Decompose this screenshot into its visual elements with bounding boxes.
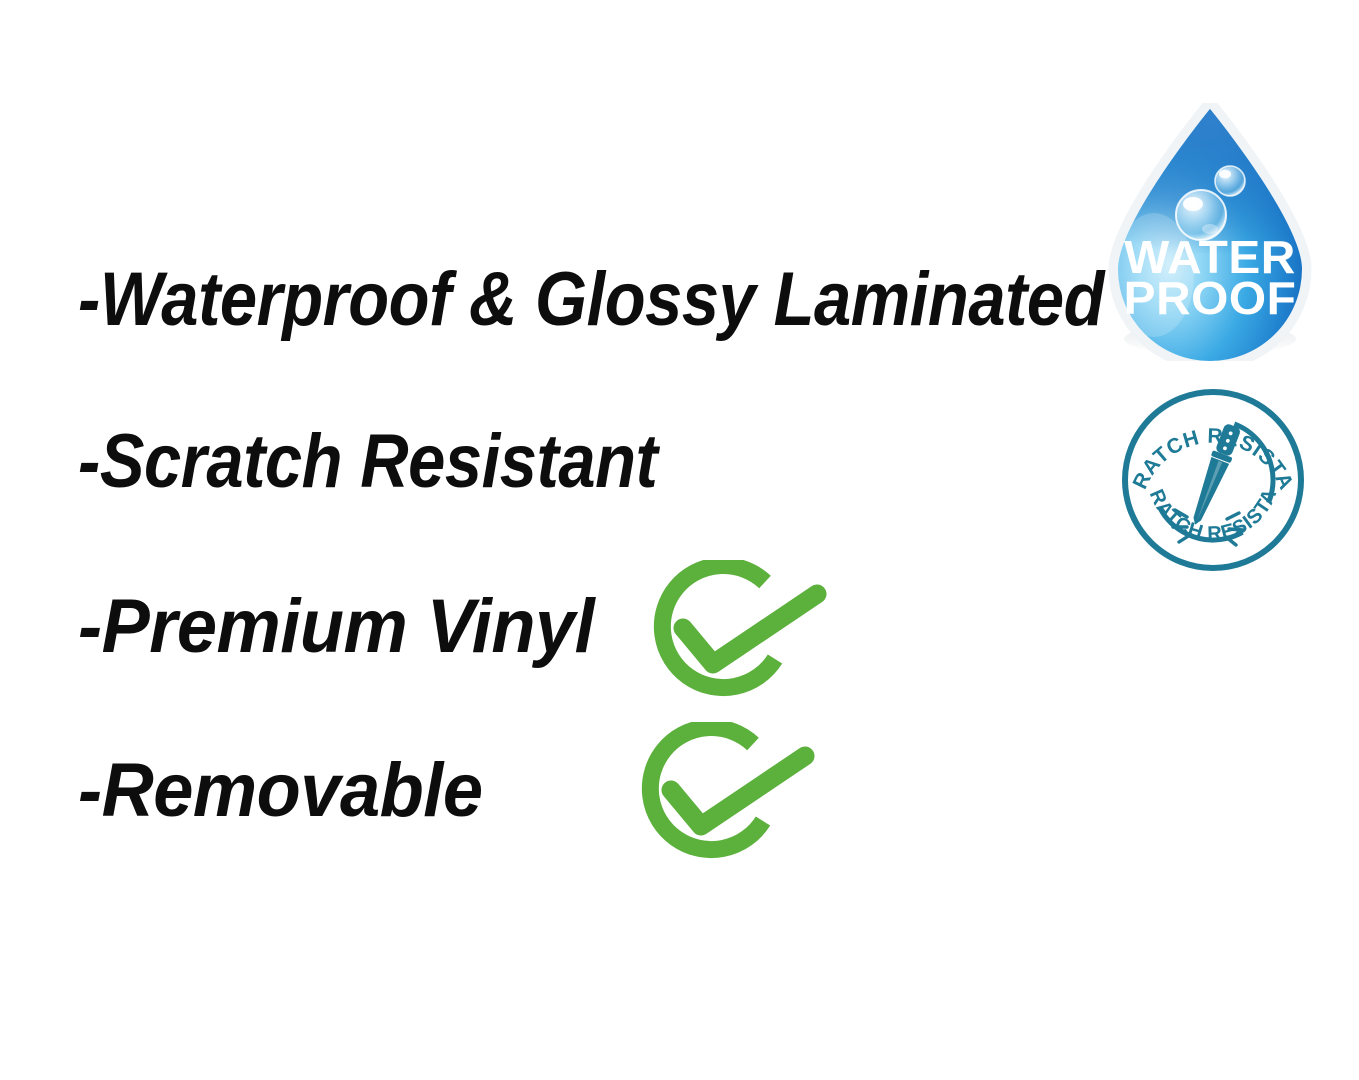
feature-item-waterproof-glossy-laminated: -Waterproof & Glossy Laminated <box>78 262 1104 338</box>
feature-item-premium-vinyl: -Premium Vinyl <box>78 589 594 665</box>
water-bubble-small <box>1215 166 1245 196</box>
feature-item-scratch-resistant: -Scratch Resistant <box>78 424 657 500</box>
waterproof-line2: PROOF <box>1124 273 1297 324</box>
waterproof-badge: WATER PROOF <box>1106 103 1314 361</box>
check-mark <box>683 594 817 664</box>
scratch-resistant-badge: SCRATCH RESISTANT SCRATCH RESISTANT <box>1117 386 1309 574</box>
check-mark <box>671 756 805 826</box>
check-circle-removable <box>630 722 820 874</box>
check-circle-premium-vinyl <box>642 560 832 712</box>
feature-list-graphic: -Waterproof & Glossy Laminated -Scratch … <box>0 0 1359 1080</box>
feature-item-removable: -Removable <box>78 753 483 829</box>
